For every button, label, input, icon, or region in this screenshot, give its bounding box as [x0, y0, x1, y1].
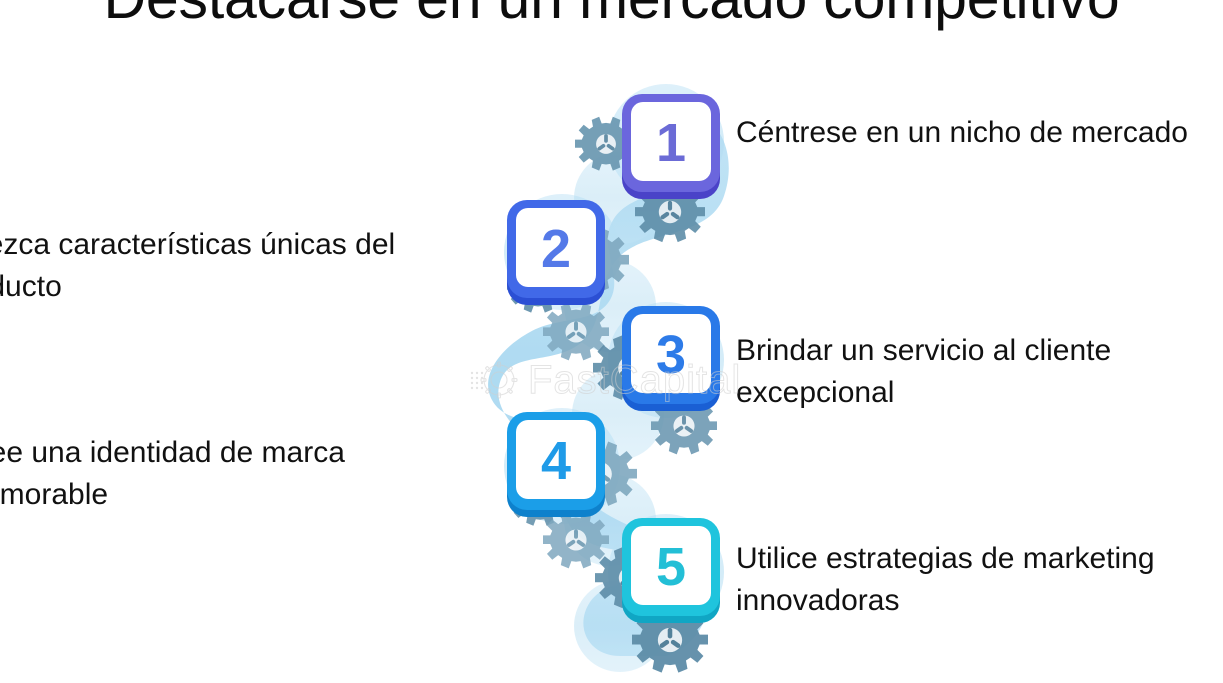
step-number-1: 1 — [656, 116, 686, 170]
step-number-5: 5 — [656, 540, 686, 594]
step-label-1: Céntrese en un nicho de mercado — [736, 112, 1223, 154]
step-label-4: Cree una identidad de marca memorable — [0, 432, 418, 516]
gear-dots-logo-icon — [468, 353, 522, 407]
step-tile-5[interactable]: 5 — [622, 518, 720, 616]
step-label-2: Ofrezca características únicas del produ… — [0, 224, 470, 308]
step-label-3: Brindar un servicio al cliente excepcion… — [736, 330, 1223, 414]
step-tile-2[interactable]: 2 — [507, 200, 605, 298]
step-number-3: 3 — [656, 328, 686, 382]
infographic-stage: 1 Céntrese en un nicho de mercado 2 Ofre… — [0, 0, 1223, 683]
watermark: FastCapital — [468, 352, 768, 408]
step-tile-1[interactable]: 1 — [622, 94, 720, 192]
step-label-5: Utilice estrategias de marketing innovad… — [736, 538, 1223, 622]
step-number-4: 4 — [541, 434, 571, 488]
step-tile-4[interactable]: 4 — [507, 412, 605, 510]
step-number-2: 2 — [541, 222, 571, 276]
step-tile-3[interactable]: 3 — [622, 306, 720, 404]
